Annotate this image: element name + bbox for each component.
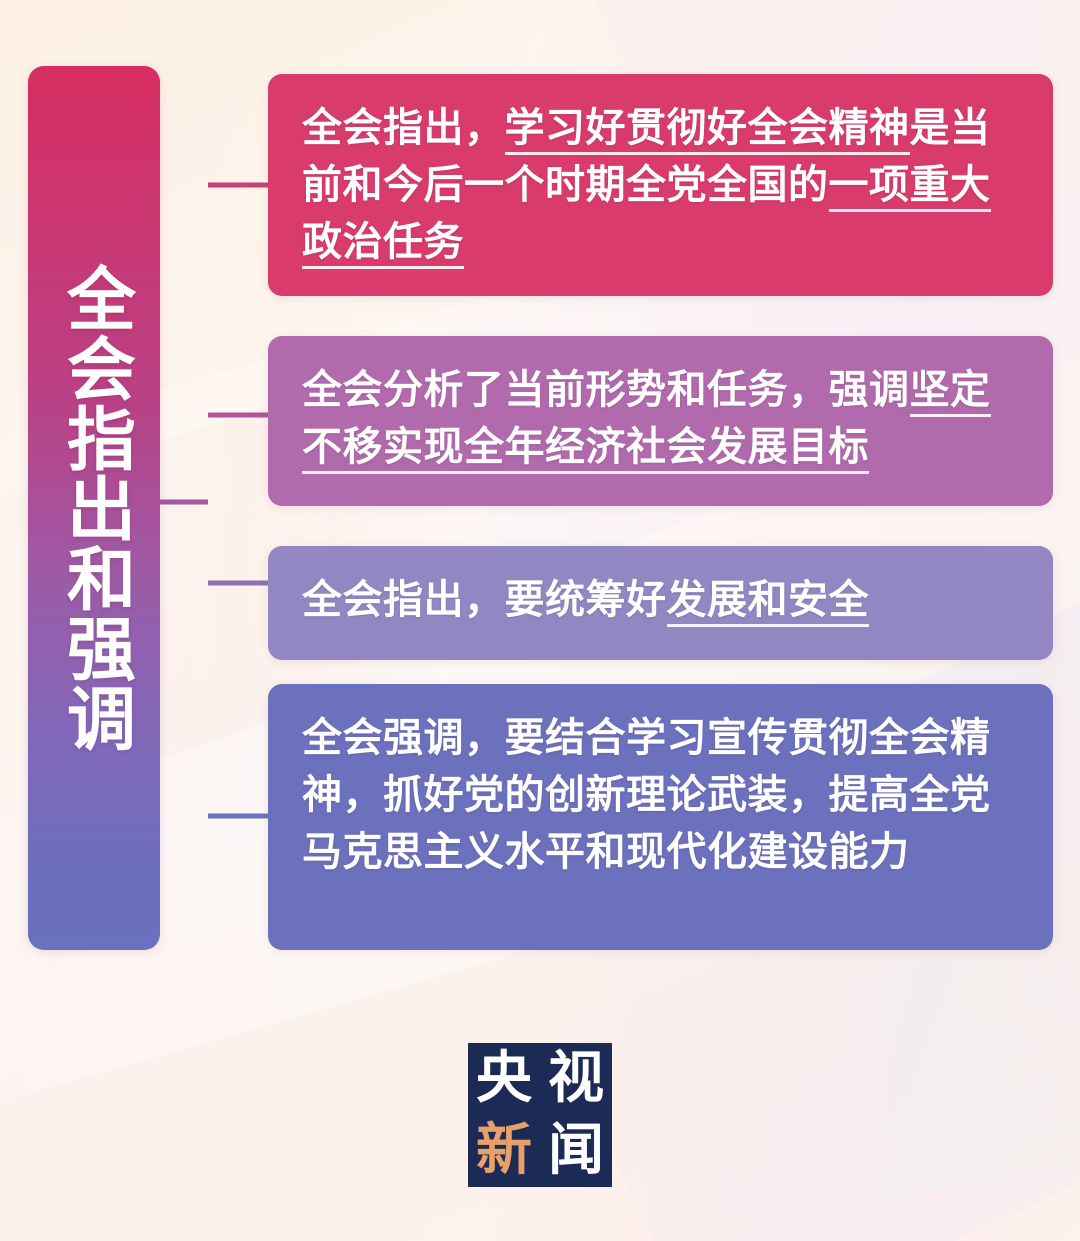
- plain-run: 全会强调，要结合学习宣传贯彻全会精神，抓好党的创新理论武装，提高全党马克思主义水…: [302, 716, 991, 874]
- logo-char-2: 视: [548, 1051, 604, 1107]
- point-card-4-text: 全会强调，要结合学习宣传贯彻全会精神，抓好党的创新理论武装，提高全党马克思主义水…: [302, 710, 1023, 882]
- emphasis-run: 学习好贯彻好全会精神: [505, 106, 910, 155]
- plain-run: 全会指出，: [302, 106, 505, 150]
- logo-char-4: 闻: [548, 1123, 604, 1179]
- point-card-3-text: 全会指出，要统筹好发展和安全: [302, 572, 1023, 629]
- plain-run: 全会指出，要统筹好: [302, 578, 667, 622]
- vertical-title-banner: 全会指出和强调: [28, 66, 160, 950]
- infographic-canvas: 全会指出和强调 全会指出，学习好贯彻好全会精神是当前和今后一个时期全党全国的一项…: [0, 0, 1080, 1241]
- point-card-1[interactable]: 全会指出，学习好贯彻好全会精神是当前和今后一个时期全党全国的一项重大政治任务: [268, 74, 1053, 296]
- point-card-1-text: 全会指出，学习好贯彻好全会精神是当前和今后一个时期全党全国的一项重大政治任务: [302, 100, 1023, 272]
- point-card-4[interactable]: 全会强调，要结合学习宣传贯彻全会精神，抓好党的创新理论武装，提高全党马克思主义水…: [268, 684, 1053, 950]
- point-card-3[interactable]: 全会指出，要统筹好发展和安全: [268, 546, 1053, 660]
- logo-char-1: 央: [476, 1051, 532, 1107]
- emphasis-run: 发展和安全: [667, 578, 870, 627]
- point-card-2[interactable]: 全会分析了当前形势和任务，强调坚定不移实现全年经济社会发展目标: [268, 336, 1053, 506]
- vertical-title-text: 全会指出和强调: [51, 263, 138, 753]
- plain-run: 全会分析了当前形势和任务，强调: [302, 368, 910, 412]
- cctv-news-logo: 央 视 新 闻: [468, 1043, 612, 1187]
- logo-char-3: 新: [476, 1123, 532, 1179]
- point-card-2-text: 全会分析了当前形势和任务，强调坚定不移实现全年经济社会发展目标: [302, 362, 1023, 476]
